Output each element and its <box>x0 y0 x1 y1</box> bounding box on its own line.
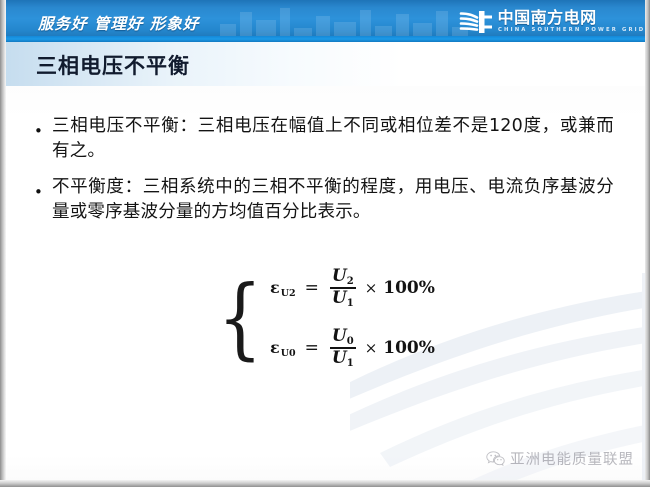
numerator-symbol: U <box>332 268 347 286</box>
logo-english-name: CHINA SOUTHERN POWER GRID <box>498 28 645 33</box>
header-slogan: 服务好 管理好 形象好 <box>38 12 199 34</box>
power-grid-logo-icon <box>459 9 493 35</box>
formula-equations: εU2 = U2 U1 × 100% εU0 = <box>270 268 435 367</box>
times-sign: × <box>365 339 378 357</box>
denominator-subscript: 1 <box>347 359 354 370</box>
epsilon-symbol: ε <box>270 278 280 297</box>
slide-right-edge <box>645 0 650 487</box>
equation-epsilon-u2: εU2 = U2 U1 × 100% <box>270 268 435 308</box>
bullet-marker: • <box>34 175 52 200</box>
logo-text-block: 中国南方电网 CHINA SOUTHERN POWER GRID <box>498 10 642 33</box>
epsilon-subscript: U0 <box>281 348 296 359</box>
numerator-symbol: U <box>332 328 347 346</box>
account-watermark: 亚洲电能质量联盟 <box>486 448 634 469</box>
epsilon-subscript: U2 <box>281 288 296 299</box>
denominator-symbol: U <box>332 290 347 308</box>
fraction-numerator: U2 <box>330 268 356 286</box>
equals-sign: = <box>305 278 319 298</box>
equation-lhs: εU0 <box>270 338 296 357</box>
slide-left-edge <box>0 0 6 487</box>
slide-bottom-edge <box>0 480 650 487</box>
fraction: U0 U1 <box>330 328 356 368</box>
times-sign: × <box>365 279 378 297</box>
formula-brace: { <box>218 274 263 362</box>
equation-lhs: εU2 <box>270 278 296 297</box>
bullet-text: 不平衡度：三相系统中的三相不平衡的程度，用电压、电流负序基波分量或零序基波分量的… <box>52 175 614 226</box>
fraction-denominator: U1 <box>330 290 356 308</box>
equation-epsilon-u0: εU0 = U0 U1 × 100% <box>270 328 435 368</box>
list-item: • 三相电压不平衡：三相电压在幅值上不同或相位差不是120度，或兼而有之。 <box>34 114 614 165</box>
account-name: 亚洲电能质量联盟 <box>510 448 634 469</box>
slide-title-bar: 三相电压不平衡 <box>0 42 650 86</box>
bullet-marker: • <box>34 114 52 139</box>
numerator-subscript: 0 <box>347 337 354 348</box>
denominator-symbol: U <box>332 350 347 368</box>
fraction-numerator: U0 <box>330 328 356 346</box>
list-item: • 不平衡度：三相系统中的三相不平衡的程度，用电压、电流负序基波分量或零序基波分… <box>34 175 614 226</box>
slide-body: • 三相电压不平衡：三相电压在幅值上不同或相位差不是120度，或兼而有之。 • … <box>0 86 650 487</box>
logo-chinese-name: 中国南方电网 <box>498 10 642 26</box>
slide-header-band: 服务好 管理好 形象好 中国南方电网 CHINA SOUTHERN POWER … <box>0 0 650 42</box>
wechat-icon <box>486 451 505 467</box>
bullet-text: 三相电压不平衡：三相电压在幅值上不同或相位差不是120度，或兼而有之。 <box>52 114 614 165</box>
presentation-slide: 服务好 管理好 形象好 中国南方电网 CHINA SOUTHERN POWER … <box>0 0 650 487</box>
percent-value: 100% <box>383 338 435 358</box>
bullet-list: • 三相电压不平衡：三相电压在幅值上不同或相位差不是120度，或兼而有之。 • … <box>34 114 614 236</box>
equals-sign: = <box>305 338 319 358</box>
slide-title: 三相电压不平衡 <box>36 50 190 80</box>
fraction: U2 U1 <box>330 268 356 308</box>
formula-block: { εU2 = U2 U1 × 100% <box>212 268 435 367</box>
epsilon-symbol: ε <box>270 338 280 357</box>
fraction-denominator: U1 <box>330 350 356 368</box>
percent-value: 100% <box>383 278 435 298</box>
denominator-subscript: 1 <box>347 299 354 310</box>
numerator-subscript: 2 <box>347 277 354 288</box>
company-logo: 中国南方电网 CHINA SOUTHERN POWER GRID <box>459 6 642 38</box>
